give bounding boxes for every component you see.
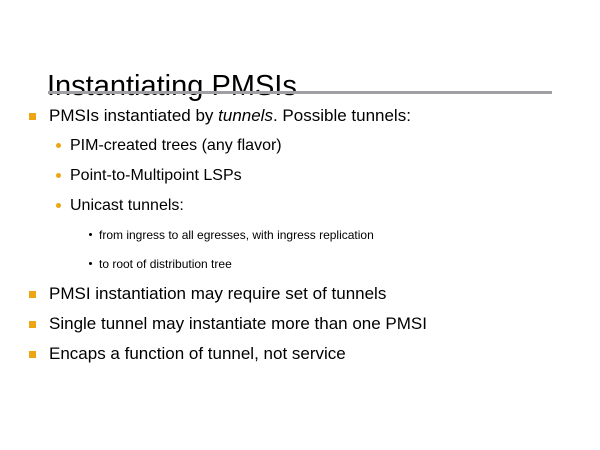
- list-item-label: Single tunnel may instantiate more than …: [49, 311, 427, 337]
- list-item-label: PMSI instantiation may require set of tu…: [49, 281, 386, 307]
- list-item: Point-to-Multipoint LSPs: [0, 163, 600, 193]
- square-bullet-icon: [29, 113, 36, 120]
- list-item: Encaps a function of tunnel, not service: [0, 341, 600, 371]
- slide-canvas: Instantiating PMSIs PMSIs instantiated b…: [0, 0, 600, 450]
- list-item: to root of distribution tree: [0, 252, 600, 281]
- list-item-label: from ingress to all egresses, with ingre…: [99, 223, 374, 247]
- list-item-text-emphasis: tunnels: [218, 106, 273, 125]
- list-item-label: Unicast tunnels:: [70, 193, 184, 219]
- dot-bullet-icon: [56, 203, 61, 208]
- list-item: PIM-created trees (any flavor): [0, 133, 600, 163]
- title-underline-rule: [48, 91, 552, 94]
- list-item: PMSI instantiation may require set of tu…: [0, 281, 600, 311]
- dot-bullet-icon: [56, 143, 61, 148]
- list-item-text-before: PMSIs instantiated by: [49, 106, 218, 125]
- list-item-text-after: . Possible tunnels:: [273, 106, 411, 125]
- square-bullet-icon: [29, 321, 36, 328]
- square-bullet-icon: [29, 291, 36, 298]
- list-item: from ingress to all egresses, with ingre…: [0, 223, 600, 252]
- list-item: PMSIs instantiated by tunnels. Possible …: [0, 103, 600, 133]
- list-item-label: Encaps a function of tunnel, not service: [49, 341, 346, 367]
- dot-bullet-icon: [56, 173, 61, 178]
- list-item: Single tunnel may instantiate more than …: [0, 311, 600, 341]
- list-item-label: PIM-created trees (any flavor): [70, 133, 282, 159]
- small-dot-bullet-icon: [89, 233, 92, 236]
- list-item: Unicast tunnels:: [0, 193, 600, 223]
- list-item-label: PMSIs instantiated by tunnels. Possible …: [49, 103, 411, 129]
- list-item-label: Point-to-Multipoint LSPs: [70, 163, 242, 189]
- page-title: Instantiating PMSIs: [47, 69, 297, 103]
- square-bullet-icon: [29, 351, 36, 358]
- list-item-label: to root of distribution tree: [99, 252, 232, 276]
- bullet-list: PMSIs instantiated by tunnels. Possible …: [0, 103, 600, 371]
- small-dot-bullet-icon: [89, 262, 92, 265]
